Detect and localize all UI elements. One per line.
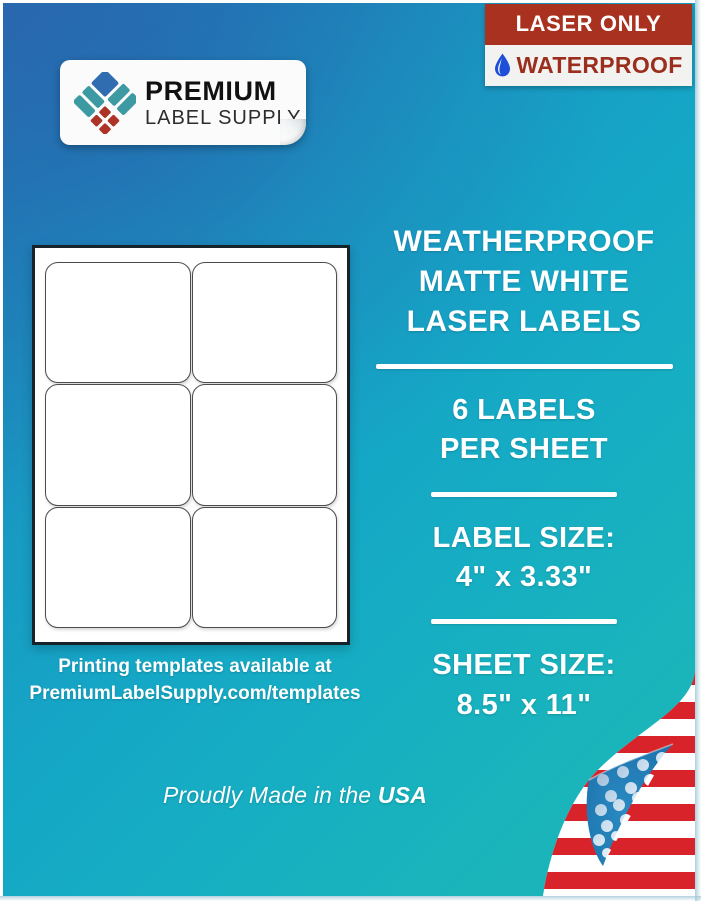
label-size-label: LABEL SIZE: bbox=[364, 519, 684, 558]
label-cell bbox=[192, 384, 338, 505]
product-title-line1: WEATHERPROOF bbox=[364, 222, 684, 262]
label-cell bbox=[45, 262, 191, 383]
product-title-line3: LASER LABELS bbox=[364, 302, 684, 342]
made-in-usa-text: Proudly Made in the USA bbox=[95, 782, 495, 809]
brand-name-primary: PREMIUM bbox=[145, 78, 302, 105]
right-edge-highlight bbox=[695, 0, 701, 901]
product-title-line2: MATTE WHITE bbox=[364, 262, 684, 302]
made-in-usa-country: USA bbox=[378, 782, 427, 808]
label-cell bbox=[192, 262, 338, 383]
usa-flag-icon bbox=[543, 668, 695, 896]
product-title: WEATHERPROOF MATTE WHITE LASER LABELS bbox=[364, 222, 684, 342]
waterproof-badge: WATERPROOF bbox=[485, 45, 692, 86]
bottom-edge-highlight bbox=[0, 896, 701, 901]
spec-divider bbox=[431, 619, 617, 624]
templates-note: Printing templates available at PremiumL… bbox=[0, 654, 390, 708]
brand-name-secondary: LABEL SUPPLY bbox=[145, 108, 302, 128]
made-in-usa-prefix: Proudly Made in the bbox=[163, 782, 378, 808]
label-grid bbox=[45, 262, 337, 628]
label-sheet-preview bbox=[32, 245, 350, 645]
label-cell bbox=[45, 507, 191, 628]
spec-divider bbox=[376, 364, 673, 369]
brand-logo-card: PREMIUM LABEL SUPPLY bbox=[60, 60, 306, 145]
badge-stack: LASER ONLY WATERPROOF bbox=[485, 4, 692, 86]
labels-per-sheet-unit: PER SHEET bbox=[364, 430, 684, 469]
labels-per-sheet: 6 LABELS PER SHEET bbox=[364, 391, 684, 470]
label-cell bbox=[192, 507, 338, 628]
labels-per-sheet-count: 6 LABELS bbox=[364, 391, 684, 430]
spec-divider bbox=[431, 492, 617, 497]
laser-only-badge: LASER ONLY bbox=[485, 4, 692, 45]
diamond-squares-logo-icon bbox=[74, 72, 136, 134]
spec-column: WEATHERPROOF MATTE WHITE LASER LABELS 6 … bbox=[364, 222, 684, 725]
label-cell bbox=[45, 384, 191, 505]
water-drop-icon bbox=[494, 53, 511, 77]
label-size: LABEL SIZE: 4" x 3.33" bbox=[364, 519, 684, 598]
waterproof-badge-label: WATERPROOF bbox=[516, 54, 682, 77]
label-size-value: 4" x 3.33" bbox=[364, 558, 684, 597]
product-image: LASER ONLY WATERPROOF PREM bbox=[0, 0, 701, 901]
templates-note-url: PremiumLabelSupply.com/templates bbox=[0, 681, 390, 708]
templates-note-line1: Printing templates available at bbox=[0, 654, 390, 681]
usa-flag-page-curl bbox=[543, 668, 695, 896]
brand-wordmark: PREMIUM LABEL SUPPLY bbox=[145, 78, 302, 128]
